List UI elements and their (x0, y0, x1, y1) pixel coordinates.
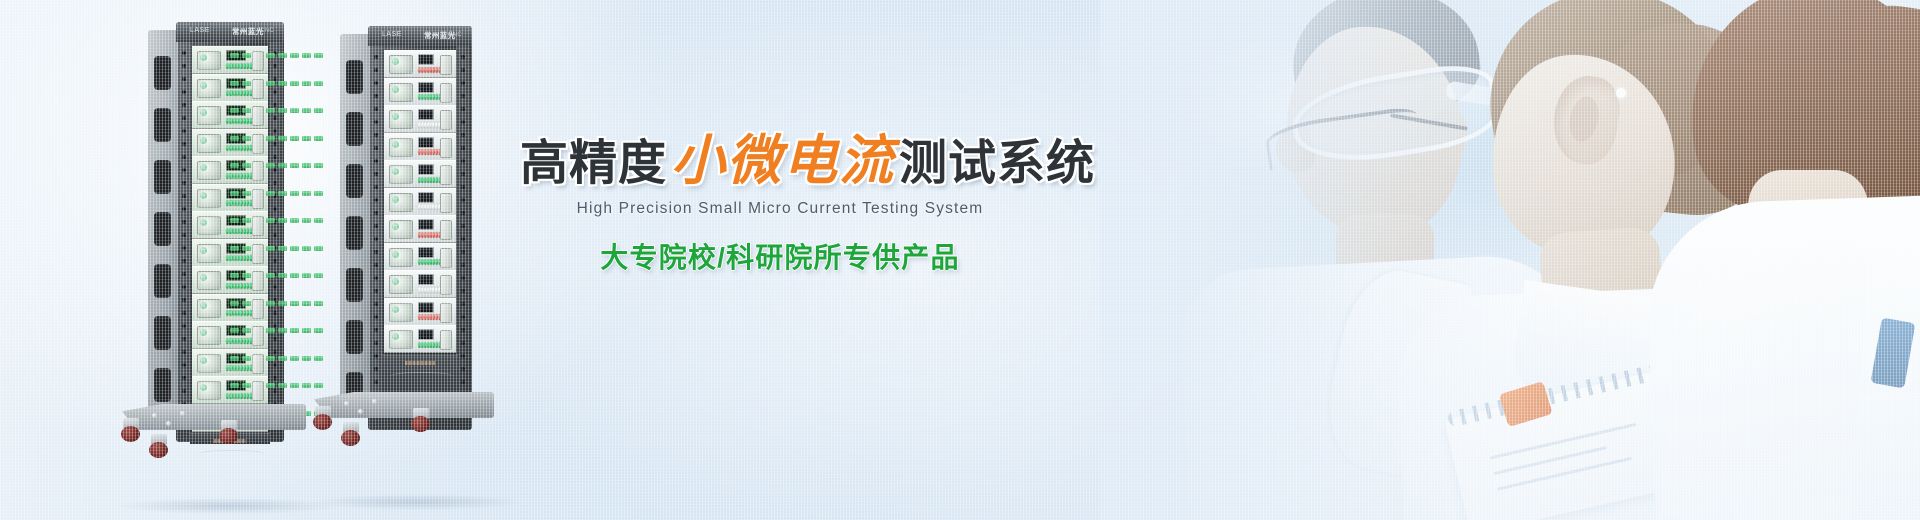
banner-tagline: 大专院校/科研院所专供产品 (520, 236, 1040, 276)
banner-subtitle-english: High Precision Small Micro Current Testi… (520, 200, 1040, 218)
banner-title: 高精度小微电流测试系统 (520, 133, 1040, 188)
title-highlight: 小微电流 (667, 128, 899, 192)
banner-text-block: 高精度小微电流测试系统 High Precision Small Micro C… (0, 0, 1920, 520)
title-prefix: 高精度 (520, 137, 667, 190)
title-suffix: 测试系统 (899, 137, 1095, 190)
hero-banner: LASE常州蓝光CNC LASE常州蓝光CNC 高精度小微电流测试系统 High… (0, 0, 1920, 520)
